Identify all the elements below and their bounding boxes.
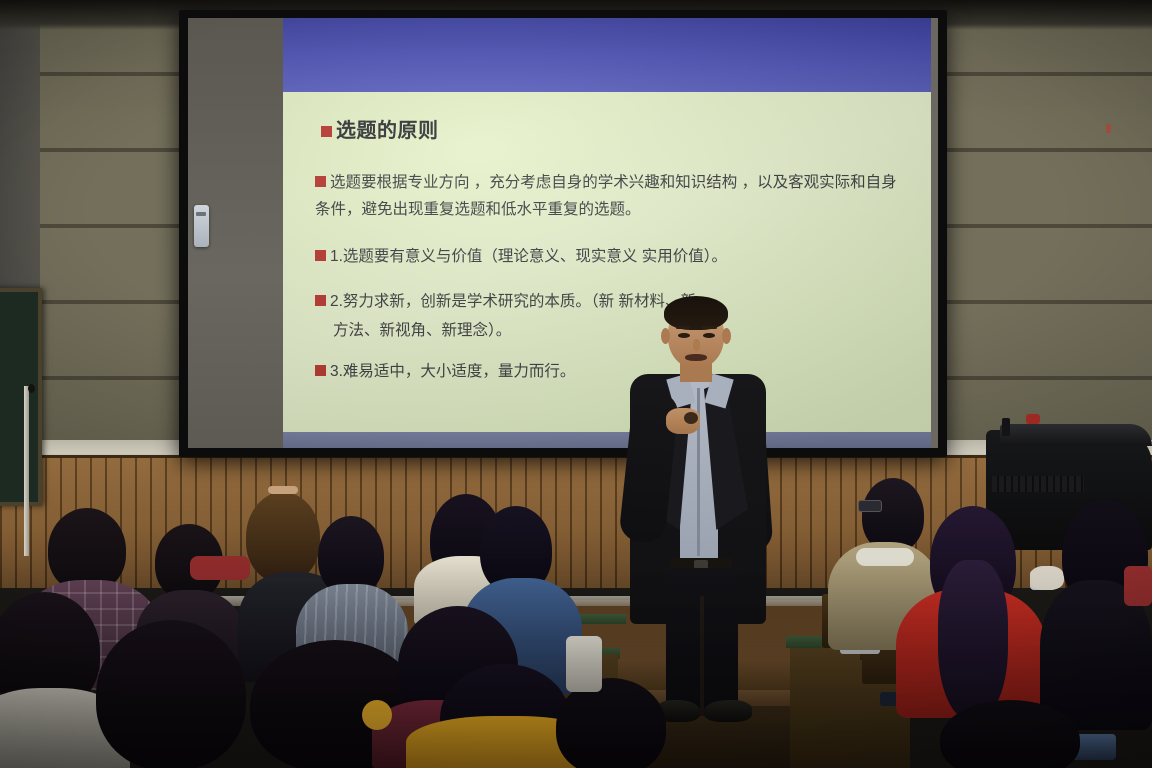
presenter bbox=[612, 296, 782, 726]
yellow-pompom bbox=[362, 700, 392, 730]
light-switch-rocker[interactable] bbox=[196, 212, 206, 216]
student-hand-with-cup bbox=[1030, 566, 1064, 590]
student-red-jacket-hair bbox=[938, 560, 1008, 720]
screen-unlit-right bbox=[930, 18, 938, 448]
presenter-ear-left bbox=[661, 328, 670, 344]
presenter-hair bbox=[664, 296, 728, 330]
lecture-hall-scene: 选题的原则 选题要根据专业方向 ，充分考虑自身的学术兴趣和知识结构 ，以及客观实… bbox=[0, 0, 1152, 768]
presenter-eyebrow-left bbox=[676, 326, 691, 329]
blackboard bbox=[0, 288, 42, 506]
trouser-leg-gap bbox=[700, 596, 704, 716]
red-object-on-piano bbox=[1026, 414, 1040, 424]
presenter-eyebrow-right bbox=[702, 326, 717, 329]
presenter-eye-right bbox=[703, 333, 715, 338]
student-tan-hoodie-head bbox=[862, 478, 924, 552]
student-ponytail-head bbox=[246, 492, 320, 582]
presenter-mouth bbox=[685, 354, 707, 361]
presenter-shoe-right bbox=[704, 700, 752, 722]
pole-knob-icon bbox=[28, 384, 35, 393]
projector-light-falloff bbox=[283, 18, 931, 448]
presenter-eye-left bbox=[678, 333, 690, 338]
pointer-pole bbox=[24, 386, 29, 556]
microphone-icon bbox=[1002, 418, 1010, 436]
grand-piano-keys bbox=[992, 476, 1084, 492]
student-white-sleeve bbox=[566, 636, 602, 692]
red-bag bbox=[1124, 566, 1152, 606]
hoodie-collar bbox=[856, 548, 914, 566]
red-scarf bbox=[190, 556, 250, 580]
student-foreground-2-head bbox=[96, 620, 246, 768]
presenter-fingers bbox=[684, 412, 698, 424]
desk-center-rear-top bbox=[574, 614, 626, 624]
presenter-nose bbox=[693, 339, 700, 351]
hair-tie-icon bbox=[268, 486, 298, 494]
eyeglasses-icon bbox=[858, 500, 882, 512]
presenter-ear-right bbox=[722, 328, 731, 344]
projected-slide: 选题的原则 选题要根据专业方向 ，充分考虑自身的学术兴趣和知识结构 ，以及客观实… bbox=[283, 18, 931, 448]
grand-piano-lid bbox=[1000, 424, 1152, 446]
